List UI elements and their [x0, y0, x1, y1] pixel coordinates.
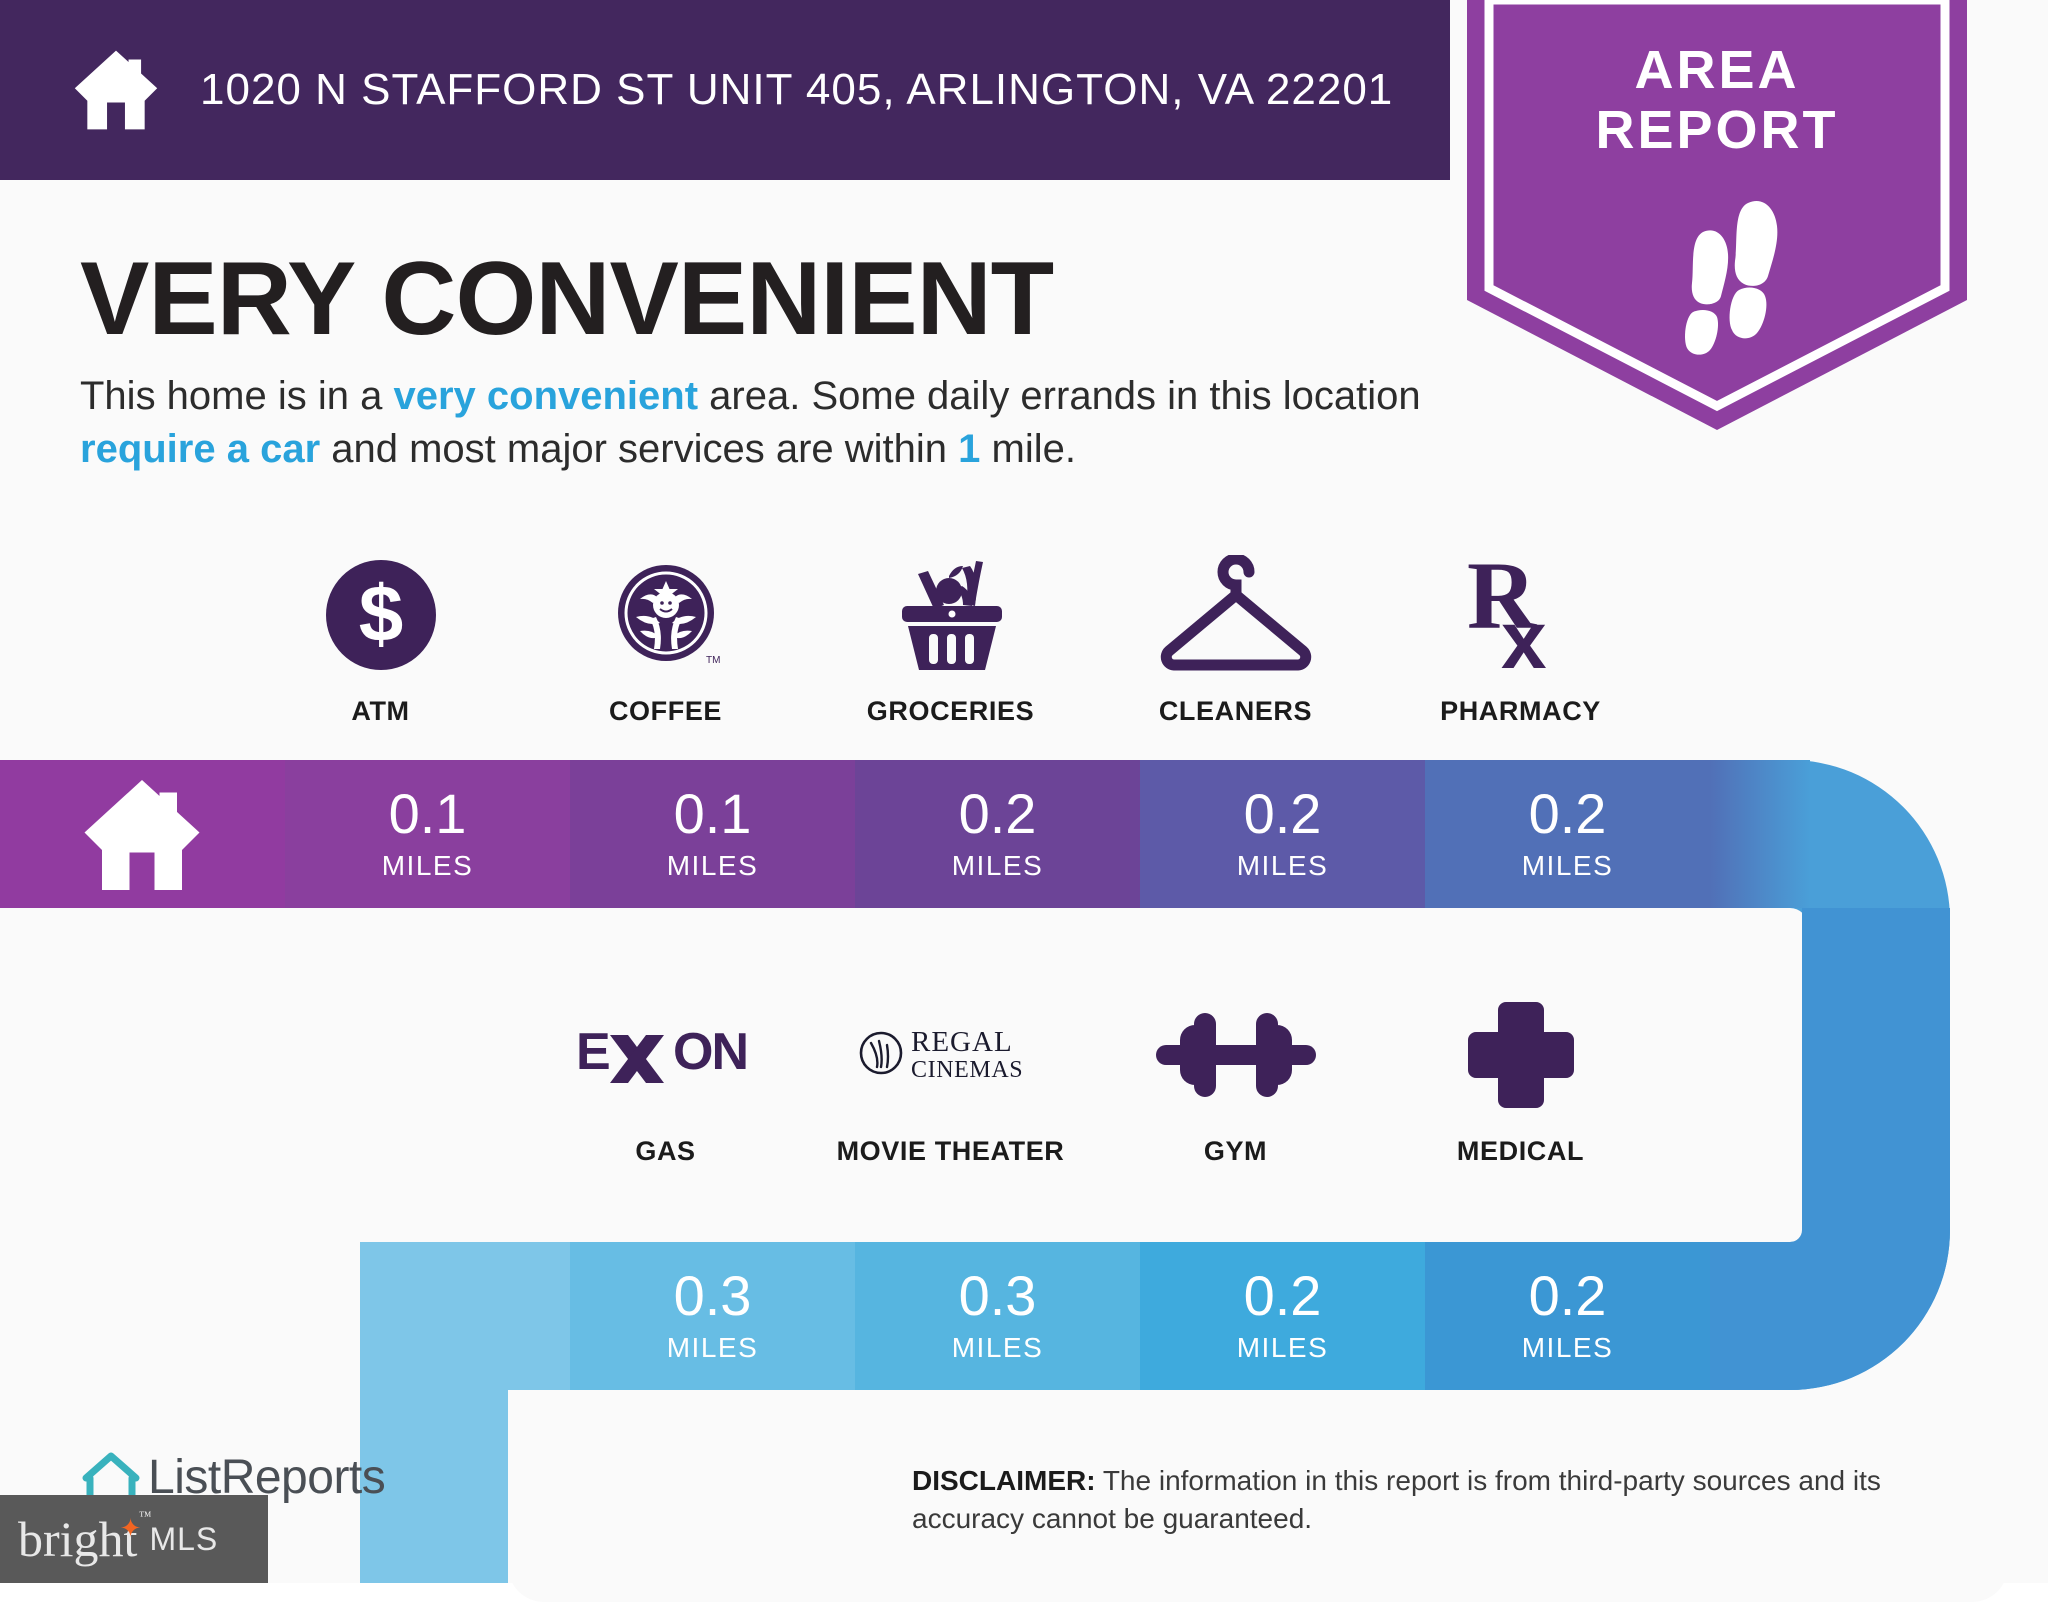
- amenity-groceries: GROCERIES: [808, 550, 1093, 727]
- amenity-label: PHARMACY: [1440, 696, 1601, 727]
- hero-text-1: This home is in a: [80, 374, 393, 418]
- bright-tm: ™: [139, 1508, 152, 1524]
- amenity-label: GAS: [635, 1136, 695, 1167]
- amenity-label: MOVIE THEATER: [837, 1136, 1065, 1167]
- mls-suffix: MLS: [149, 1521, 218, 1558]
- svg-text:TM: TM: [706, 655, 720, 666]
- svg-text:x: x: [1501, 595, 1547, 676]
- amenity-label: COFFEE: [609, 696, 722, 727]
- area-report-badge: AREA REPORT: [1467, 0, 1967, 430]
- amenity-gas: E ON GAS: [523, 990, 808, 1167]
- amenity-label: ATM: [351, 696, 409, 727]
- amenity-label: MEDICAL: [1457, 1136, 1584, 1167]
- amenity-movie-theater: REGAL CINEMAS MOVIE THEATER: [808, 990, 1093, 1167]
- amenity-cleaners: CLEANERS: [1093, 550, 1378, 727]
- starbucks-logo-icon: TM: [610, 550, 722, 680]
- disclaimer: DISCLAIMER: The information in this repo…: [912, 1462, 1982, 1537]
- regal-logo-icon: REGAL CINEMAS: [851, 990, 1051, 1120]
- hero-highlight-1: very convenient: [393, 374, 698, 418]
- exxon-logo-icon: E ON: [576, 990, 756, 1120]
- amenity-medical: MEDICAL: [1378, 990, 1663, 1167]
- svg-text:ON: ON: [673, 1023, 747, 1081]
- hero-text-2: area. Some daily errands in this locatio…: [698, 374, 1421, 418]
- svg-text:REGAL: REGAL: [911, 1026, 1013, 1058]
- page-title: VERY CONVENIENT: [80, 240, 1053, 359]
- dumbbell-icon: [1150, 990, 1322, 1120]
- hero-highlight-3: 1: [958, 427, 980, 471]
- amenity-pharmacy: R x PHARMACY: [1378, 550, 1663, 727]
- coat-hanger-icon: [1151, 550, 1321, 680]
- svg-text:CINEMAS: CINEMAS: [911, 1057, 1023, 1083]
- svg-text:E: E: [576, 1023, 609, 1081]
- disclaimer-label: DISCLAIMER:: [912, 1465, 1096, 1496]
- amenity-coffee: TM COFFEE: [523, 550, 808, 727]
- header-bar: 1020 N STAFFORD ST UNIT 405, ARLINGTON, …: [0, 0, 1450, 180]
- amenity-label: CLEANERS: [1159, 696, 1312, 727]
- hero-text-3: and most major services are within: [320, 427, 958, 471]
- badge-title: AREA REPORT: [1467, 40, 1967, 161]
- bright-mls-watermark: bright ✦ ™ MLS: [0, 1495, 268, 1583]
- dollar-circle-icon: $: [325, 550, 437, 680]
- amenity-atm: $ ATM: [238, 550, 523, 727]
- amenity-label: GYM: [1204, 1136, 1267, 1167]
- hero-highlight-2: require a car: [80, 427, 320, 471]
- amenity-label: GROCERIES: [867, 696, 1034, 727]
- rx-icon: R x: [1461, 550, 1581, 680]
- amenity-gym: GYM: [1093, 990, 1378, 1167]
- svg-text:$: $: [358, 569, 403, 658]
- badge-line-2: REPORT: [1467, 100, 1967, 160]
- hero-text-4: mile.: [980, 427, 1076, 471]
- bright-brand: bright ✦ ™: [18, 1510, 137, 1568]
- property-address: 1020 N STAFFORD ST UNIT 405, ARLINGTON, …: [200, 65, 1393, 115]
- home-icon: [70, 47, 162, 133]
- badge-line-1: AREA: [1467, 40, 1967, 100]
- amenity-icons-row-2: E ON GAS REGAL CINEMAS MOVIE THEATER: [523, 990, 1663, 1167]
- hero-description: This home is in a very convenient area. …: [80, 370, 1480, 476]
- amenity-icons-row-1: $ ATM TM COFFEE: [238, 550, 1663, 727]
- medical-cross-icon: [1462, 990, 1580, 1120]
- shopping-basket-icon: [886, 550, 1016, 680]
